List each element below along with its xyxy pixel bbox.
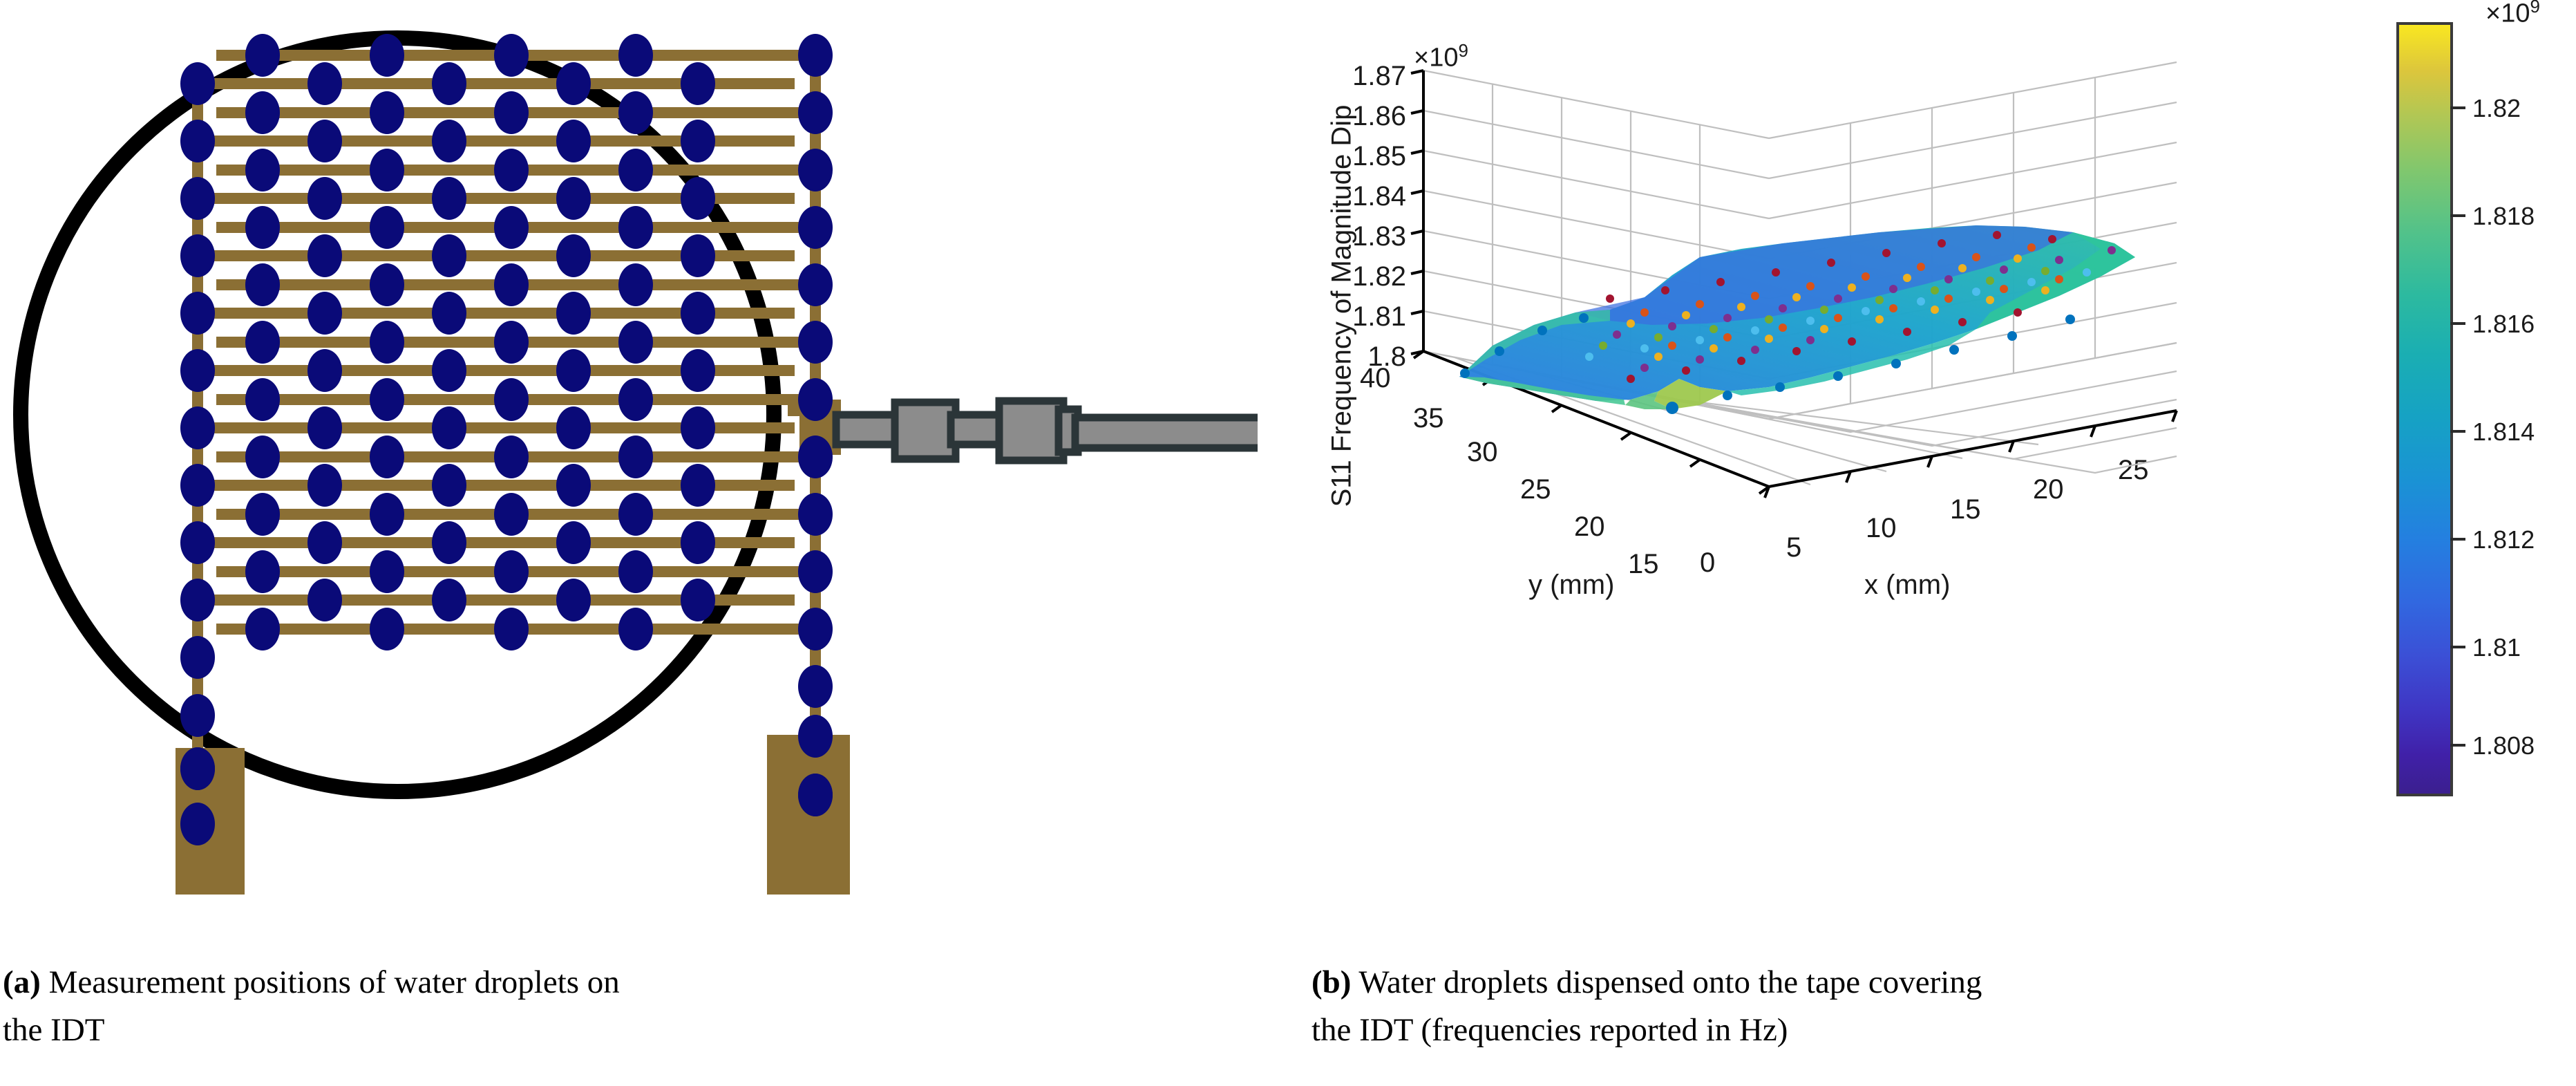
colorbar-tick-7: 1.808 — [2472, 731, 2535, 760]
droplet-on-pad-right — [798, 774, 833, 816]
droplet-on-pad-left — [180, 747, 215, 790]
idt-svg — [0, 0, 1258, 940]
bond-pad-right — [767, 735, 850, 895]
sma-connector — [836, 401, 1258, 460]
figure-root: S11 Frequency of Magnitude Dip ×109 1.87… — [0, 0, 2576, 1086]
colorbar-tick-6: 1.81 — [2472, 633, 2521, 662]
caption-a: (a) Measurement positions of water dropl… — [3, 959, 625, 1054]
connector-hex-2 — [999, 401, 1063, 460]
caption-b: (b) Water droplets dispensed onto the ta… — [1311, 959, 2016, 1054]
connector-hex-1 — [895, 402, 956, 459]
colorbar-tick-5: 1.812 — [2472, 525, 2535, 554]
x-axis-line — [1769, 411, 2177, 487]
caption-b-text: Water droplets dispensed onto the tape c… — [1311, 964, 1982, 1048]
panel-b-surface-plot: S11 Frequency of Magnitude Dip ×109 1.87… — [1285, 0, 2576, 940]
water-droplet-grid — [180, 34, 833, 845]
colorbar-tick-3: 1.816 — [2472, 310, 2535, 339]
colorbar-tick-2: 1.818 — [2472, 202, 2535, 231]
measured-surface — [1459, 225, 2135, 409]
caption-a-label: (a) — [3, 964, 41, 1000]
colorbar-exponent: ×109 — [2485, 0, 2540, 29]
panel-a-idt-diagram — [0, 0, 1258, 940]
colorbar[interactable] — [2396, 22, 2453, 796]
colorbar-tick-1: 1.82 — [2472, 94, 2521, 123]
surface-3d-canvas — [1285, 0, 2576, 940]
connector-cable — [1075, 418, 1258, 448]
colorbar-ticks — [2450, 22, 2471, 796]
caption-a-text: Measurement positions of water droplets … — [3, 964, 620, 1048]
colorbar-tick-4: 1.814 — [2472, 418, 2535, 447]
caption-b-label: (b) — [1311, 964, 1351, 1000]
